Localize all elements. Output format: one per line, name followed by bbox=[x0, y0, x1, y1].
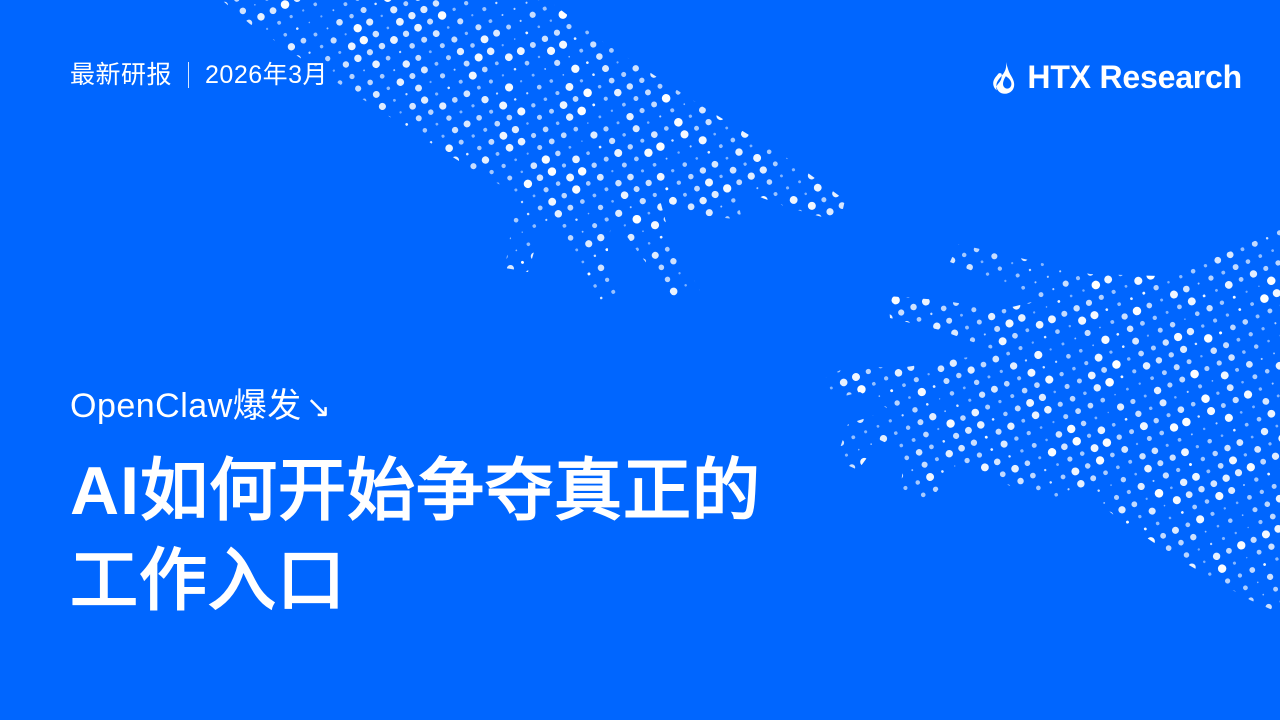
brand-name: HTX Research bbox=[1027, 61, 1242, 93]
page-title-line-1: AI如何开始争夺真正的 bbox=[70, 446, 761, 536]
arrow-down-right-icon: ↘ bbox=[306, 389, 332, 427]
header-divider bbox=[188, 62, 189, 88]
hero-eyebrow: OpenClaw爆发↘ bbox=[70, 385, 761, 428]
hero-headline-block: OpenClaw爆发↘ AI如何开始争夺真正的 工作入口 bbox=[70, 385, 761, 626]
hero-eyebrow-text: OpenClaw爆发 bbox=[70, 387, 302, 425]
flame-icon bbox=[991, 60, 1018, 94]
brand-lockup: HTX Research bbox=[991, 60, 1242, 94]
header-bar: 最新研报 2026年3月 bbox=[70, 62, 328, 88]
page-title-line-2: 工作入口 bbox=[70, 536, 761, 626]
page-title: AI如何开始争夺真正的 工作入口 bbox=[70, 446, 761, 627]
report-date: 2026年3月 bbox=[205, 63, 328, 88]
poster-canvas: 最新研报 2026年3月 HTX Research OpenClaw爆发↘ AI… bbox=[0, 0, 1280, 720]
report-label: 最新研报 bbox=[70, 63, 172, 88]
